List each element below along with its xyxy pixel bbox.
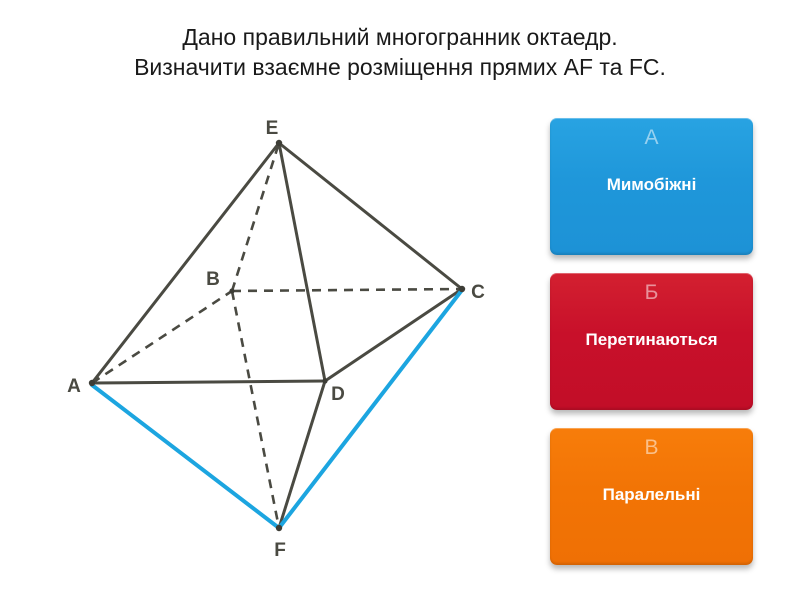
edge-BC-dashed (232, 289, 462, 291)
vertex-label-E: E (266, 118, 279, 139)
edge-FC-highlight (279, 290, 462, 528)
edge-AF-highlight (92, 385, 279, 528)
vertex-label-C: C (471, 282, 485, 303)
edge-AD (92, 381, 325, 383)
octahedron-diagram: E B C A D F (0, 100, 520, 580)
answer-text-c: Паралельні (550, 484, 753, 506)
edge-DF (279, 381, 325, 528)
answer-text-b: Перетинаються (550, 329, 753, 351)
octahedron-dashed-edges (92, 143, 462, 528)
answer-letter-a: А (550, 125, 753, 151)
vertex-label-F: F (274, 540, 286, 561)
vertex-dot-B (229, 288, 234, 293)
vertex-dot-D (322, 378, 327, 383)
answer-letter-b: Б (550, 280, 753, 306)
vertex-label-B: B (206, 269, 220, 290)
edge-DC (325, 289, 462, 381)
vertex-dot-C (459, 286, 465, 292)
answer-button-b[interactable]: Б Перетинаються (550, 273, 753, 410)
vertex-dot-E (276, 140, 282, 146)
edge-AE (92, 143, 279, 383)
vertex-dot-A (89, 380, 95, 386)
octahedron-figure-panel: E B C A D F (0, 100, 520, 580)
edge-BF-dashed (232, 291, 279, 528)
edge-BE-dashed (232, 143, 279, 291)
edge-ED (279, 143, 325, 381)
answer-options-panel: А Мимобіжні Б Перетинаються В Паралельні (550, 118, 760, 568)
edge-AB-dashed (92, 291, 232, 383)
edge-EC (279, 143, 462, 289)
title-line-2: Визначити взаємне розміщення прямих AF т… (0, 52, 800, 82)
title-line-1: Дано правильний многогранник октаедр. (0, 22, 800, 52)
vertex-dot-F (276, 525, 282, 531)
answer-button-c[interactable]: В Паралельні (550, 428, 753, 565)
vertex-label-A: A (67, 376, 81, 397)
answer-button-a[interactable]: А Мимобіжні (550, 118, 753, 255)
octahedron-vertex-dots (89, 140, 465, 531)
octahedron-solid-edges (92, 143, 462, 528)
vertex-label-D: D (331, 384, 345, 405)
page-title: Дано правильний многогранник октаедр. Ви… (0, 22, 800, 82)
answer-letter-c: В (550, 435, 753, 461)
answer-text-a: Мимобіжні (550, 174, 753, 196)
